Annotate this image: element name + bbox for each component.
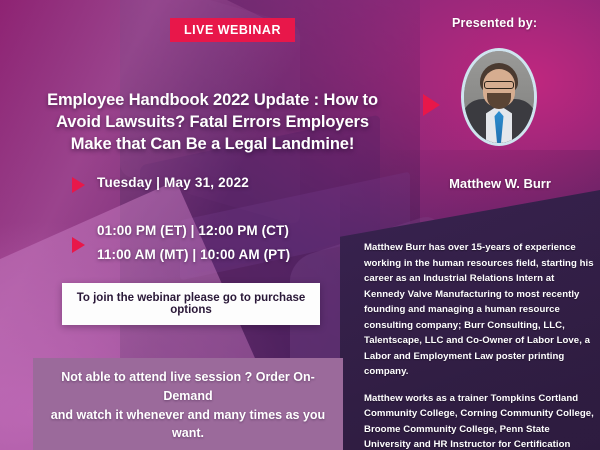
play-triangle-icon-date — [72, 177, 85, 193]
webinar-times: 01:00 PM (ET) | 12:00 PM (CT) 11:00 AM (… — [97, 219, 290, 266]
on-demand-line-2: and watch it whenever and many times as … — [45, 406, 331, 444]
play-triangle-icon-headline — [423, 94, 440, 116]
webinar-date: Tuesday | May 31, 2022 — [97, 175, 249, 190]
on-demand-banner[interactable]: Not able to attend live session ? Order … — [33, 358, 343, 450]
presented-by-label: Presented by: — [452, 16, 537, 30]
on-demand-line-1: Not able to attend live session ? Order … — [45, 368, 331, 406]
presenter-biography: Matthew Burr has over 15-years of experi… — [364, 240, 596, 450]
live-webinar-badge: LIVE WEBINAR — [170, 18, 295, 42]
join-webinar-notice[interactable]: To join the webinar please go to purchas… — [62, 283, 320, 325]
webinar-poster: LIVE WEBINAR Presented by: Matthew W. Bu… — [0, 0, 600, 450]
play-triangle-icon-times — [72, 237, 85, 253]
bio-paragraph-1: Matthew Burr has over 15-years of experi… — [364, 240, 596, 380]
presenter-name: Matthew W. Burr — [420, 176, 580, 191]
page-title: Employee Handbook 2022 Update : How to A… — [40, 90, 385, 155]
webinar-times-line-1: 01:00 PM (ET) | 12:00 PM (CT) — [97, 219, 290, 243]
avatar-glasses — [484, 81, 514, 89]
webinar-times-line-2: 11:00 AM (MT) | 10:00 AM (PT) — [97, 243, 290, 267]
presenter-avatar — [461, 48, 537, 146]
bio-paragraph-2: Matthew works as a trainer Tompkins Cort… — [364, 391, 596, 450]
